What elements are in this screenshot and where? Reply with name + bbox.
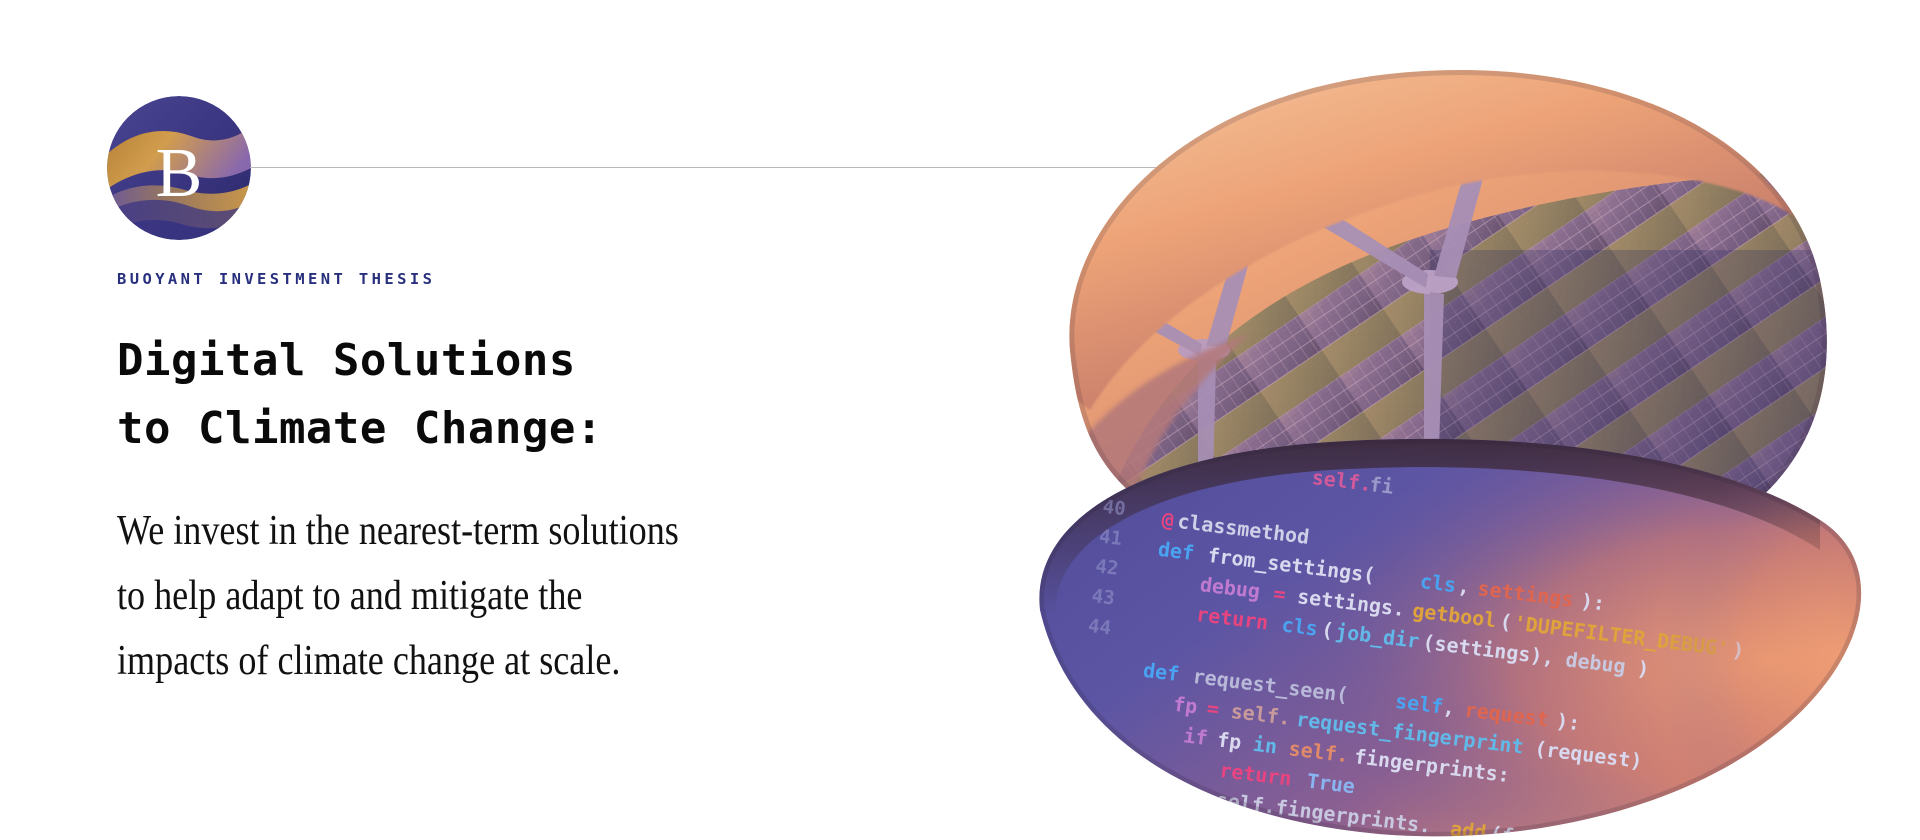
svg-text:fi: fi	[1368, 472, 1395, 499]
logo-letter: B	[156, 135, 203, 212]
eyebrow-label: BUOYANT INVESTMENT THESIS	[117, 270, 937, 288]
svg-text:42: 42	[1094, 555, 1119, 580]
svg-text:41: 41	[1098, 525, 1123, 550]
svg-text:43: 43	[1091, 585, 1116, 610]
body-line-1: We invest in the nearest-term solutions	[117, 499, 857, 564]
svg-text:if: if	[1182, 723, 1209, 750]
thesis-text-column: BUOYANT INVESTMENT THESIS Digital Soluti…	[117, 270, 937, 694]
page-title: Digital Solutions to Climate Change:	[117, 327, 937, 463]
headline-line-1: Digital Solutions	[117, 327, 937, 395]
svg-text:fp: fp	[1216, 727, 1243, 754]
svg-text:44: 44	[1087, 615, 1112, 640]
svg-text:cls: cls	[1419, 569, 1458, 597]
body-paragraph: We invest in the nearest-term solutions …	[117, 499, 857, 694]
headline-line-2: to Climate Change:	[117, 395, 937, 463]
svg-text:def: def	[1142, 658, 1181, 686]
svg-text:add: add	[1449, 816, 1488, 840]
svg-text:def: def	[1157, 537, 1196, 565]
svg-text:fp: fp	[1172, 692, 1199, 719]
body-line-2: to help adapt to and mitigate the	[117, 564, 857, 629]
svg-text:cls: cls	[1280, 612, 1319, 640]
buoyant-logo[interactable]: B	[107, 96, 251, 240]
body-line-3: impacts of climate change at scale.	[117, 629, 857, 694]
svg-text:in: in	[1252, 732, 1279, 759]
climate-tech-artwork: 40 41 42 43 44 self. fi @ classmethod de…	[1030, 50, 1870, 840]
